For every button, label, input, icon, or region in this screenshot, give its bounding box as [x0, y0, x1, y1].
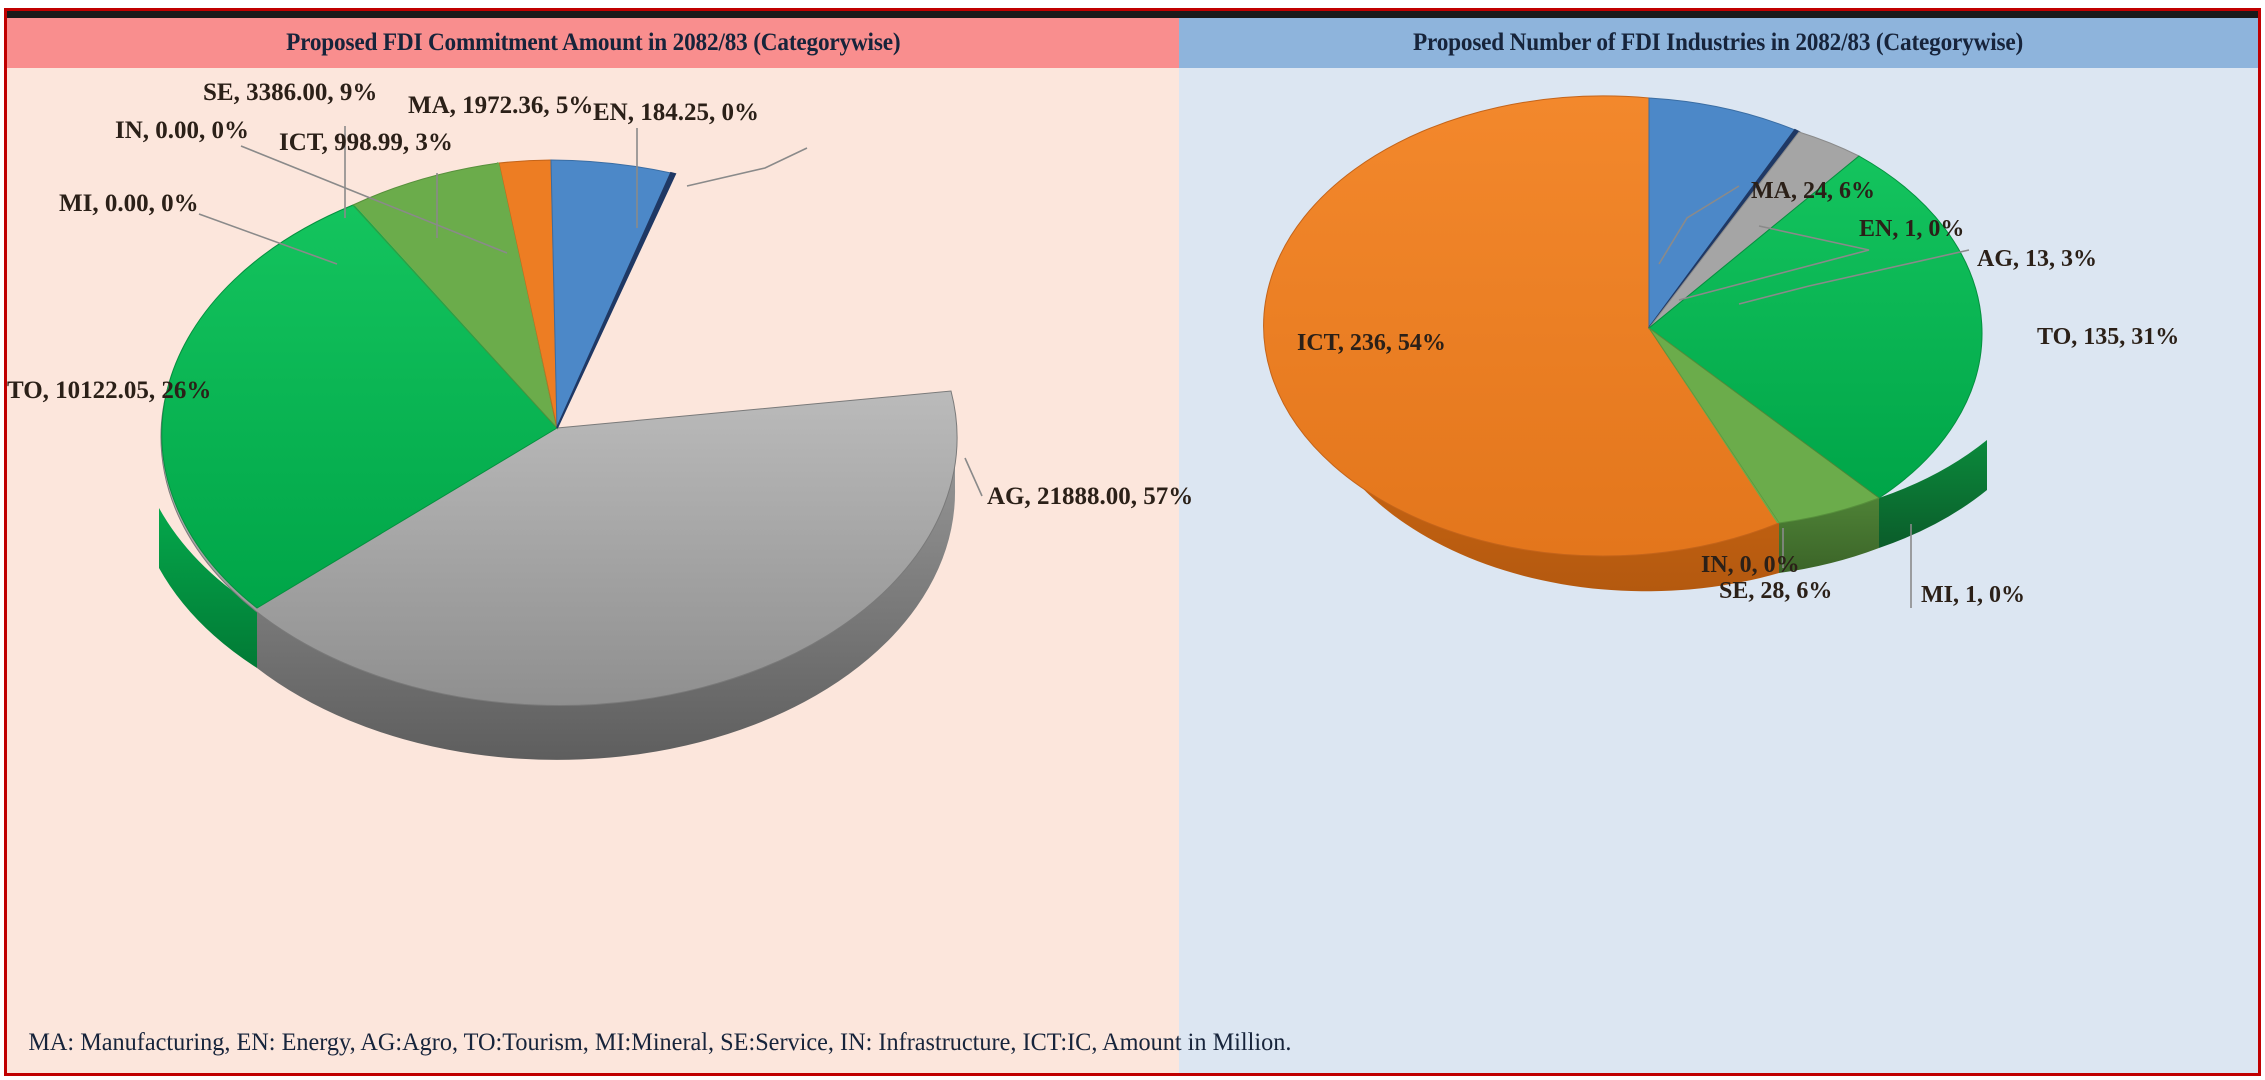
to-slice-label: TO, 135, 31% — [2037, 324, 2179, 350]
right-pie-chart: MA, 24, 6% EN, 1, 0% AG, 13, 3% TO, 135,… — [1179, 68, 2264, 1028]
right-chart-title: Proposed Number of FDI Industries in 208… — [1413, 29, 2023, 57]
ict-slice-label: ICT, 998.99, 3% — [279, 129, 453, 156]
en-leader — [687, 148, 807, 186]
legend-abbreviations: MA: Manufacturing, EN: Energy, AG:Agro, … — [7, 1029, 1291, 1057]
in-slice-label: IN, 0.00, 0% — [115, 117, 249, 144]
se-slice-label: SE, 28, 6% — [1719, 578, 1832, 604]
ma-slice-label: MA, 24, 6% — [1751, 178, 1875, 204]
ma-slice — [551, 160, 671, 428]
outer-border-frame: Proposed FDI Commitment Amount in 2082/8… — [4, 8, 2261, 1076]
ag-slice-label: AG, 21888.00, 57% — [987, 483, 1193, 510]
left-pie-svg: SE, 3386.00, 9% IN, 0.00, 0% ICT, 998.99… — [7, 68, 1179, 1028]
screenshot-root: Proposed FDI Commitment Amount in 2082/8… — [0, 0, 2265, 1080]
legend-footer: MA: Manufacturing, EN: Energy, AG:Agro, … — [7, 1019, 2258, 1067]
ict-slice-label: ICT, 236, 54% — [1297, 330, 1446, 356]
ag-slice-label: AG, 13, 3% — [1977, 246, 2097, 272]
mi-slice-label: MI, 0.00, 0% — [59, 190, 199, 217]
right-chart-header: Proposed Number of FDI Industries in 208… — [1179, 18, 2258, 68]
to-slice-label: TO, 10122.05, 26% — [7, 377, 211, 404]
se-slice-label: SE, 3386.00, 9% — [203, 79, 377, 106]
mi-slice-label: MI, 1, 0% — [1921, 582, 2025, 608]
right-pie-svg: MA, 24, 6% EN, 1, 0% AG, 13, 3% TO, 135,… — [1179, 68, 2264, 1028]
top-divider-rule — [7, 11, 2258, 18]
en-slice-label: EN, 1, 0% — [1859, 216, 1964, 242]
en-slice-label: EN, 184.25, 0% — [593, 99, 759, 126]
in-slice-label: IN, 0, 0% — [1701, 552, 1800, 578]
left-chart-title: Proposed FDI Commitment Amount in 2082/8… — [286, 29, 900, 57]
left-pie-chart: SE, 3386.00, 9% IN, 0.00, 0% ICT, 998.99… — [7, 68, 1179, 1028]
left-chart-header: Proposed FDI Commitment Amount in 2082/8… — [7, 18, 1179, 68]
ag-leader — [965, 458, 982, 496]
ma-slice-label: MA, 1972.36, 5% — [408, 92, 593, 119]
